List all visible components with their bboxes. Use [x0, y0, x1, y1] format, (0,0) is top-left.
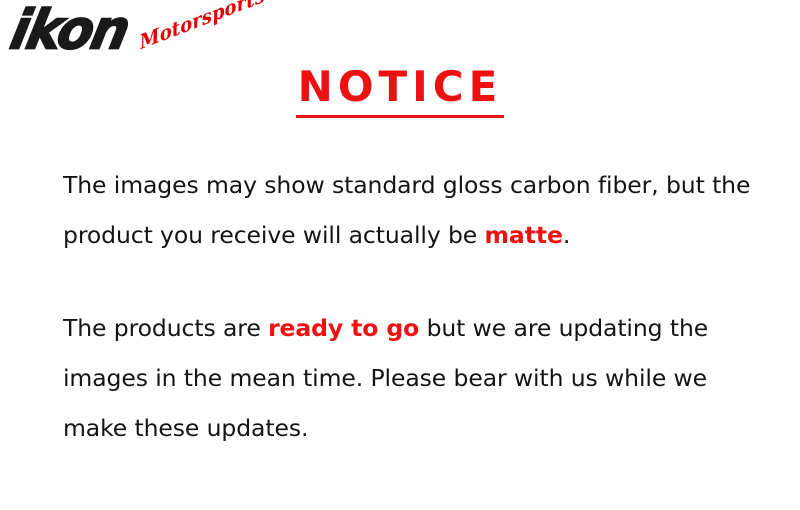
notice-heading-wrap: NOTICE	[0, 64, 800, 118]
page-title: NOTICE	[296, 64, 505, 118]
paragraph-1-highlight-matte: matte	[485, 221, 563, 249]
paragraph-spacer	[63, 260, 763, 303]
notice-paragraph-1: The images may show standard gloss carbo…	[63, 160, 763, 260]
paragraph-1-text-after: .	[563, 221, 570, 249]
paragraph-1-text-before: The images may show standard gloss carbo…	[63, 171, 758, 249]
paragraph-2-text-before: The products are	[63, 314, 268, 342]
paragraph-2-highlight-ready-to-go: ready to go	[268, 314, 419, 342]
notice-banner: ikon Motorsports NOTICE The images may s…	[0, 0, 800, 510]
notice-paragraph-2: The products are ready to go but we are …	[63, 303, 763, 453]
brand-wordmark: ikon	[6, 3, 133, 58]
notice-body: The images may show standard gloss carbo…	[63, 160, 763, 453]
brand-script-motorsports: Motorsports	[138, 0, 266, 53]
